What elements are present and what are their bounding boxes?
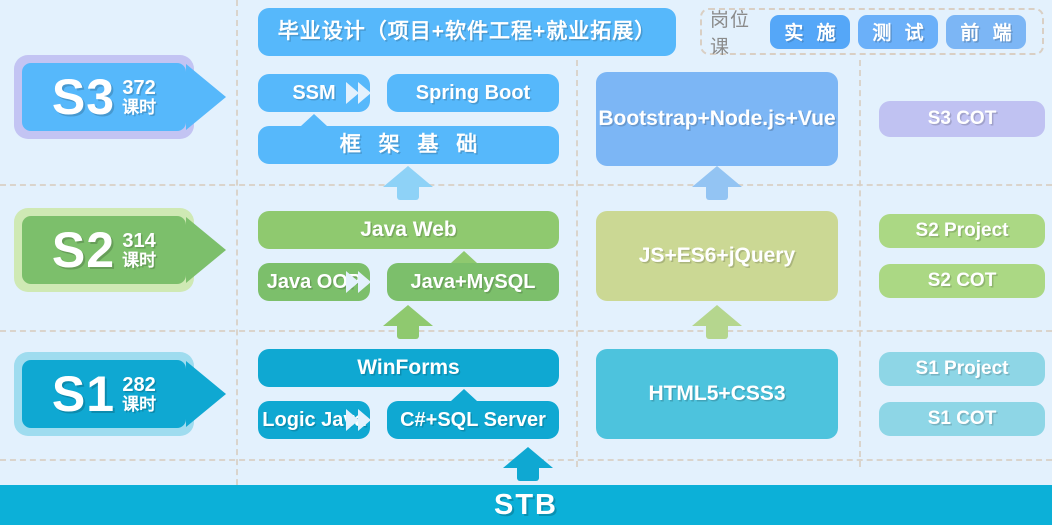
course-box-ssm[interactable]: SSM bbox=[258, 74, 370, 112]
side-label: S2 COT bbox=[928, 270, 997, 291]
job-button-label: 前 端 bbox=[956, 18, 1015, 45]
stage-hours: 372 课时 bbox=[122, 78, 156, 117]
course-box-bootstrap-node-vue[interactable]: Bootstrap+Node.js+Vue bbox=[596, 72, 838, 166]
course-label: Java OOP bbox=[267, 271, 362, 293]
side-label: S1 Project bbox=[916, 358, 1009, 379]
stage-badge-body: S1 282 课时 bbox=[22, 360, 186, 428]
stage-arrow-tip bbox=[186, 361, 226, 427]
course-box-spring-boot[interactable]: Spring Boot bbox=[387, 74, 559, 112]
stb-label: STB bbox=[494, 489, 558, 522]
connector-arrow-up-mysql-to-javaweb bbox=[451, 251, 477, 263]
job-course-panel: 岗位课 实 施 测 试 前 端 bbox=[700, 8, 1044, 55]
side-label: S2 Project bbox=[916, 220, 1009, 241]
divider-vertical-middle bbox=[576, 60, 578, 467]
arrow-stem bbox=[706, 325, 728, 339]
job-button-label: 实 施 bbox=[780, 18, 839, 45]
stage-code: S2 bbox=[52, 225, 115, 275]
arrow-stem bbox=[397, 186, 419, 200]
course-label: SSM bbox=[292, 82, 335, 104]
job-course-button-implementation[interactable]: 实 施 bbox=[770, 15, 850, 49]
side-box-s1-cot[interactable]: S1 COT bbox=[879, 402, 1045, 436]
connector-arrow-up-framework-to-ssm bbox=[301, 114, 327, 126]
side-box-s2-cot[interactable]: S2 COT bbox=[879, 264, 1045, 298]
stage-hours-number: 282 bbox=[122, 375, 156, 396]
course-box-csharp-sql-server[interactable]: C#+SQL Server bbox=[387, 401, 559, 439]
side-box-s1-project[interactable]: S1 Project bbox=[879, 352, 1045, 386]
divider-row-s2-s1 bbox=[0, 330, 1052, 332]
course-box-logic-java[interactable]: Logic Java bbox=[258, 401, 370, 439]
course-label: JS+ES6+jQuery bbox=[639, 244, 795, 268]
capstone-box[interactable]: 毕业设计（项目+软件工程+就业拓展） bbox=[258, 8, 676, 56]
job-button-label: 测 试 bbox=[868, 18, 927, 45]
stage-arrow-tip bbox=[186, 217, 226, 283]
course-label: C#+SQL Server bbox=[400, 409, 546, 431]
stage-badge-s2[interactable]: S2 314 课时 bbox=[14, 208, 226, 292]
course-box-html5-css3[interactable]: HTML5+CSS3 bbox=[596, 349, 838, 439]
course-label: WinForms bbox=[357, 356, 459, 380]
course-label: 框 架 基 础 bbox=[334, 133, 484, 157]
stage-code: S1 bbox=[52, 369, 115, 419]
side-box-s3-cot[interactable]: S3 COT bbox=[879, 101, 1045, 137]
course-box-winforms[interactable]: WinForms bbox=[258, 349, 559, 387]
stage-hours-unit: 课时 bbox=[122, 99, 156, 117]
stage-hours-unit: 课时 bbox=[122, 396, 156, 414]
stage-hours-number: 372 bbox=[122, 78, 156, 99]
arrow-head bbox=[692, 305, 742, 326]
arrow-head bbox=[503, 447, 553, 468]
course-box-java-web[interactable]: Java Web bbox=[258, 211, 559, 249]
course-label: Java+MySQL bbox=[410, 271, 535, 293]
divider-vertical-left bbox=[236, 0, 238, 525]
stage-badge-body: S3 372 课时 bbox=[22, 63, 186, 131]
job-course-button-testing[interactable]: 测 试 bbox=[858, 15, 938, 49]
job-course-label: 岗位课 bbox=[710, 5, 763, 59]
course-box-js-es6-jquery[interactable]: JS+ES6+jQuery bbox=[596, 211, 838, 301]
arrow-stem bbox=[397, 325, 419, 339]
course-box-java-oop[interactable]: Java OOP bbox=[258, 263, 370, 301]
side-label: S3 COT bbox=[928, 108, 997, 129]
course-label: Bootstrap+Node.js+Vue bbox=[598, 107, 835, 131]
capstone-label: 毕业设计（项目+软件工程+就业拓展） bbox=[278, 20, 657, 44]
course-label: Spring Boot bbox=[416, 82, 530, 104]
stage-hours: 314 课时 bbox=[122, 231, 156, 270]
course-label: HTML5+CSS3 bbox=[648, 382, 785, 406]
side-box-s2-project[interactable]: S2 Project bbox=[879, 214, 1045, 248]
stage-badge-s1[interactable]: S1 282 课时 bbox=[14, 352, 226, 436]
side-label: S1 COT bbox=[928, 408, 997, 429]
connector-arrow-up-csharp-to-winforms bbox=[451, 389, 477, 401]
stage-hours-number: 314 bbox=[122, 231, 156, 252]
arrow-head bbox=[692, 166, 742, 187]
course-box-java-mysql[interactable]: Java+MySQL bbox=[387, 263, 559, 301]
stage-badge-s3[interactable]: S3 372 课时 bbox=[14, 55, 226, 139]
arrow-stem bbox=[706, 186, 728, 200]
arrow-stem bbox=[517, 467, 539, 481]
job-course-button-frontend[interactable]: 前 端 bbox=[946, 15, 1026, 49]
stage-arrow-tip bbox=[186, 64, 226, 130]
divider-row-s3-s2 bbox=[0, 184, 1052, 186]
stage-code: S3 bbox=[52, 72, 115, 122]
course-box-framework-basics[interactable]: 框 架 基 础 bbox=[258, 126, 559, 164]
stage-hours: 282 课时 bbox=[122, 375, 156, 414]
curriculum-roadmap: 毕业设计（项目+软件工程+就业拓展） 岗位课 实 施 测 试 前 端 S3 37… bbox=[0, 0, 1052, 525]
divider-vertical-right bbox=[859, 60, 861, 467]
stage-badge-body: S2 314 课时 bbox=[22, 216, 186, 284]
arrow-head bbox=[383, 305, 433, 326]
course-label: Logic Java bbox=[262, 409, 365, 431]
arrow-head bbox=[383, 166, 433, 187]
stb-footer-bar[interactable]: STB bbox=[0, 485, 1052, 525]
course-label: Java Web bbox=[360, 218, 457, 242]
stage-hours-unit: 课时 bbox=[122, 252, 156, 270]
